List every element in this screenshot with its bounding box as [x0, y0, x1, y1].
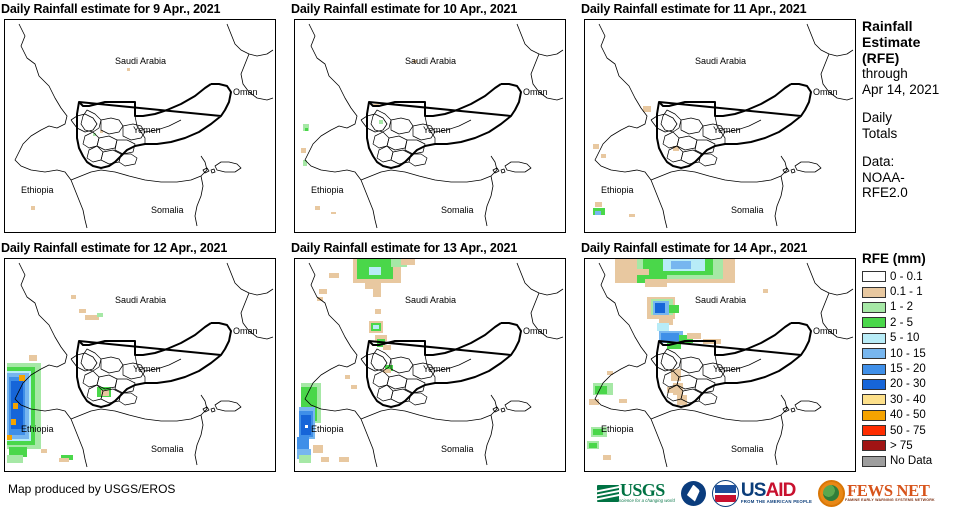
- legend-item: 30 - 40: [862, 392, 967, 407]
- label-yemen: Yemen: [713, 364, 741, 374]
- caption-panel: Rainfall Estimate (RFE) through Apr 14, …: [862, 18, 967, 201]
- usgs-wave-icon: [597, 485, 619, 502]
- map-svg: Saudi Arabia Oman Yemen Ethiopia Somalia: [585, 20, 855, 232]
- label-ethiopia: Ethiopia: [311, 424, 344, 434]
- label-yemen: Yemen: [133, 125, 161, 135]
- label-somalia: Somalia: [441, 444, 474, 454]
- legend-swatch: [862, 364, 886, 375]
- map-place-labels: Saudi Arabia Oman Yemen Ethiopia Somalia: [21, 56, 258, 215]
- legend-swatch: [862, 348, 886, 359]
- caption-title-line1: Rainfall: [862, 18, 967, 34]
- caption-data-label: Data:: [862, 154, 967, 170]
- label-somalia: Somalia: [731, 205, 764, 215]
- legend-item: 20 - 30: [862, 377, 967, 392]
- map-place-labels: Saudi Arabia Oman Yemen Ethiopia Somalia: [311, 295, 548, 454]
- legend-label: 40 - 50: [890, 409, 926, 421]
- noaa-seal-icon: [681, 481, 706, 506]
- caption-totals: Totals: [862, 126, 967, 142]
- map-svg: Saudi Arabia Oman Yemen Ethiopia Somalia: [5, 20, 275, 232]
- legend: RFE (mm) 0 - 0.10.1 - 11 - 22 - 55 - 101…: [862, 251, 967, 469]
- legend-title: RFE (mm): [862, 251, 967, 266]
- admin-boundaries: [371, 110, 471, 166]
- map-canvas[interactable]: Saudi Arabia Oman Yemen Ethiopia Somalia: [4, 19, 276, 233]
- panel-title: Daily Rainfall estimate for 14 Apr., 202…: [581, 241, 807, 258]
- legend-label: No Data: [890, 455, 932, 467]
- label-oman: Oman: [233, 87, 258, 97]
- admin-boundaries: [661, 110, 761, 166]
- label-ethiopia: Ethiopia: [601, 424, 634, 434]
- map-panel: Daily Rainfall estimate for 11 Apr., 202…: [580, 2, 861, 236]
- rainfall-raster: [7, 295, 111, 463]
- map-panel: Daily Rainfall estimate for 10 Apr., 202…: [290, 2, 571, 236]
- label-ethiopia: Ethiopia: [311, 185, 344, 195]
- legend-swatch: [862, 410, 886, 421]
- admin-boundaries: [81, 110, 181, 166]
- label-saudi-arabia: Saudi Arabia: [405, 295, 456, 305]
- caption-through: through: [862, 66, 967, 82]
- caption-daily: Daily: [862, 110, 967, 126]
- label-yemen: Yemen: [133, 364, 161, 374]
- legend-label: 30 - 40: [890, 394, 926, 406]
- legend-items: 0 - 0.10.1 - 11 - 22 - 55 - 1010 - 1515 …: [862, 269, 967, 469]
- usgs-wordmark: USGS: [620, 483, 675, 498]
- label-saudi-arabia: Saudi Arabia: [115, 295, 166, 305]
- panel-title: Daily Rainfall estimate for 12 Apr., 202…: [1, 241, 227, 258]
- map-place-labels: Saudi Arabia Oman Yemen Ethiopia Somalia: [601, 295, 838, 454]
- label-yemen: Yemen: [713, 125, 741, 135]
- map-place-labels: Saudi Arabia Oman Yemen Ethiopia Somalia: [21, 295, 258, 454]
- legend-swatch: [862, 394, 886, 405]
- label-ethiopia: Ethiopia: [21, 185, 54, 195]
- legend-item: 50 - 75: [862, 423, 967, 438]
- legend-label: 1 - 2: [890, 301, 913, 313]
- caption-data-source2: RFE2.0: [862, 185, 967, 201]
- label-yemen: Yemen: [423, 364, 451, 374]
- agency-logos: USGS science for a changing world USAID …: [597, 478, 935, 508]
- panel-title: Daily Rainfall estimate for 9 Apr., 2021: [1, 2, 220, 19]
- legend-label: 50 - 75: [890, 425, 926, 437]
- caption-date: Apr 14, 2021: [862, 82, 967, 98]
- legend-label: 0 - 0.1: [890, 271, 923, 283]
- map-place-labels: Saudi Arabia Oman Yemen Ethiopia Somalia: [311, 56, 548, 215]
- legend-item: No Data: [862, 454, 967, 469]
- label-oman: Oman: [523, 87, 548, 97]
- usaid-wordmark: USAID: [741, 483, 812, 499]
- usgs-tagline: science for a changing world: [619, 498, 675, 503]
- legend-label: 0.1 - 1: [890, 286, 923, 298]
- map-canvas[interactable]: Saudi Arabia Oman Yemen Ethiopia Somalia: [294, 19, 566, 233]
- legend-swatch: [862, 425, 886, 436]
- usaid-tagline: FROM THE AMERICAN PEOPLE: [741, 499, 812, 504]
- legend-item: 2 - 5: [862, 315, 967, 330]
- legend-swatch: [862, 317, 886, 328]
- map-svg: Saudi Arabia Oman Yemen Ethiopia Somalia: [295, 20, 565, 232]
- legend-swatch: [862, 271, 886, 282]
- map-panel: Daily Rainfall estimate for 12 Apr., 202…: [0, 241, 281, 475]
- map-svg: Saudi Arabia Oman Yemen Ethiopia Somalia: [295, 259, 565, 471]
- legend-item: 15 - 20: [862, 361, 967, 376]
- usaid-logo[interactable]: USAID FROM THE AMERICAN PEOPLE: [712, 479, 812, 507]
- legend-label: > 75: [890, 440, 913, 452]
- legend-label: 15 - 20: [890, 363, 926, 375]
- noaa-logo[interactable]: [681, 479, 706, 507]
- map-canvas[interactable]: Saudi Arabia Oman Yemen Ethiopia Somalia: [584, 19, 856, 233]
- map-canvas[interactable]: Saudi Arabia Oman Yemen Ethiopia Somalia: [294, 258, 566, 472]
- legend-label: 2 - 5: [890, 317, 913, 329]
- legend-swatch: [862, 379, 886, 390]
- label-somalia: Somalia: [731, 444, 764, 454]
- legend-swatch: [862, 333, 886, 344]
- panel-title: Daily Rainfall estimate for 10 Apr., 202…: [291, 2, 517, 19]
- legend-label: 10 - 15: [890, 348, 926, 360]
- legend-item: 5 - 10: [862, 331, 967, 346]
- label-ethiopia: Ethiopia: [601, 185, 634, 195]
- label-somalia: Somalia: [441, 205, 474, 215]
- map-canvas[interactable]: Saudi Arabia Oman Yemen Ethiopia Somalia: [584, 258, 856, 472]
- legend-item: 0.1 - 1: [862, 284, 967, 299]
- legend-swatch: [862, 456, 886, 467]
- legend-swatch: [862, 287, 886, 298]
- label-yemen: Yemen: [423, 125, 451, 135]
- label-ethiopia: Ethiopia: [21, 424, 54, 434]
- panel-title: Daily Rainfall estimate for 11 Apr., 202…: [581, 2, 806, 19]
- panel-title: Daily Rainfall estimate for 13 Apr., 202…: [291, 241, 517, 258]
- legend-label: 20 - 30: [890, 378, 926, 390]
- map-credit: Map produced by USGS/EROS: [8, 482, 175, 496]
- label-saudi-arabia: Saudi Arabia: [695, 295, 746, 305]
- caption-title-line2: Estimate: [862, 34, 967, 50]
- label-somalia: Somalia: [151, 205, 184, 215]
- legend-item: 1 - 2: [862, 300, 967, 315]
- fews-tagline: FAMINE EARLY WARNING SYSTEMS NETWORK: [845, 498, 935, 502]
- label-somalia: Somalia: [151, 444, 184, 454]
- caption-title-line3: (RFE): [862, 50, 967, 66]
- label-oman: Oman: [233, 326, 258, 336]
- admin-boundaries: [371, 349, 471, 405]
- legend-item: 10 - 15: [862, 346, 967, 361]
- map-svg: Saudi Arabia Oman Yemen Ethiopia Somalia: [585, 259, 855, 471]
- label-oman: Oman: [813, 87, 838, 97]
- globe-icon: [818, 480, 845, 507]
- usaid-wordmark-us: US: [741, 480, 766, 501]
- usgs-logo[interactable]: USGS science for a changing world: [597, 479, 675, 507]
- label-oman: Oman: [523, 326, 548, 336]
- label-saudi-arabia: Saudi Arabia: [695, 56, 746, 66]
- legend-item: 0 - 0.1: [862, 269, 967, 284]
- usaid-seal-icon: [712, 480, 739, 507]
- legend-swatch: [862, 302, 886, 313]
- legend-item: 40 - 50: [862, 408, 967, 423]
- legend-item: > 75: [862, 438, 967, 453]
- map-svg: Saudi Arabia Oman Yemen Ethiopia Somalia: [5, 259, 275, 471]
- label-oman: Oman: [813, 326, 838, 336]
- map-panel: Daily Rainfall estimate for 13 Apr., 202…: [290, 241, 571, 475]
- legend-swatch: [862, 440, 886, 451]
- fews-net-logo[interactable]: FEWS NET FAMINE EARLY WARNING SYSTEMS NE…: [818, 479, 935, 507]
- map-panel: Daily Rainfall estimate for 14 Apr., 202…: [580, 241, 861, 475]
- map-place-labels: Saudi Arabia Oman Yemen Ethiopia Somalia: [601, 56, 838, 215]
- fews-wordmark: FEWS NET: [847, 484, 935, 498]
- map-panel-grid: Daily Rainfall estimate for 9 Apr., 2021: [0, 0, 858, 478]
- legend-label: 5 - 10: [890, 332, 919, 344]
- label-saudi-arabia: Saudi Arabia: [115, 56, 166, 66]
- map-canvas[interactable]: Saudi Arabia Oman Yemen Ethiopia Somalia: [4, 258, 276, 472]
- label-saudi-arabia: Saudi Arabia: [405, 56, 456, 66]
- admin-boundaries: [81, 349, 181, 405]
- usaid-wordmark-aid: AID: [765, 480, 795, 501]
- map-panel: Daily Rainfall estimate for 9 Apr., 2021: [0, 2, 281, 236]
- caption-data-source1: NOAA-: [862, 170, 967, 186]
